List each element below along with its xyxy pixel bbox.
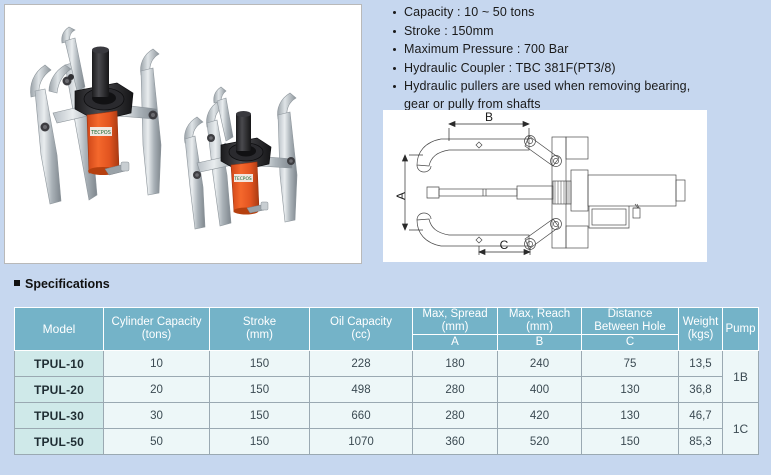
header-distance-between-hole: Distance Between Hole <box>582 308 679 335</box>
cell-distance-between-hole: 75 <box>582 351 679 377</box>
cell-stroke: 150 <box>210 403 310 429</box>
header-weight-unit: (kgs) <box>679 329 722 342</box>
header-max-spread-sub: A <box>413 335 498 351</box>
cell-cylinder-capacity: 30 <box>104 403 210 429</box>
header-distance-line2: Between Hole <box>582 321 678 334</box>
cell-max-spread: 280 <box>413 403 498 429</box>
product-photo-panel: TECPOS <box>4 4 362 264</box>
header-distance-sub: C <box>582 335 679 351</box>
cell-distance-between-hole: 150 <box>582 429 679 455</box>
header-max-reach-label: Max, Reach <box>498 308 581 321</box>
specifications-heading-text: Specifications <box>25 277 110 291</box>
feature-item-max-pressure: Maximum Pressure : 700 Bar <box>390 41 768 59</box>
header-max-spread: Max, Spread (mm) <box>413 308 498 335</box>
cell-oil-capacity: 228 <box>310 351 413 377</box>
cell-weight: 85,3 <box>679 429 723 455</box>
cell-max-reach: 520 <box>498 429 582 455</box>
feature-item-stroke: Stroke : 150mm <box>390 23 768 41</box>
feature-text: Hydraulic pullers are used when removing… <box>404 79 690 93</box>
cell-distance-between-hole: 130 <box>582 403 679 429</box>
cell-stroke: 150 <box>210 429 310 455</box>
header-stroke: Stroke (mm) <box>210 308 310 351</box>
header-max-spread-label: Max, Spread <box>413 308 497 321</box>
technical-drawing-panel: B A C <box>383 110 707 262</box>
table-header-row-main: Model Cylinder Capacity (tons) Stroke (m… <box>15 308 759 335</box>
feature-text: Hydraulic Coupler : TBC 381F(PT3/8) <box>404 61 616 75</box>
cell-pump: 1C <box>723 403 759 455</box>
header-weight: Weight (kgs) <box>679 308 723 351</box>
header-max-spread-unit: (mm) <box>413 321 497 334</box>
header-model: Model <box>15 308 104 351</box>
specifications-heading: Specifications <box>14 277 110 291</box>
cell-max-reach: 400 <box>498 377 582 403</box>
cell-oil-capacity: 1070 <box>310 429 413 455</box>
header-max-reach: Max, Reach (mm) <box>498 308 582 335</box>
cell-oil-capacity: 660 <box>310 403 413 429</box>
feature-list: Capacity : 10 ~ 50 tons Stroke : 150mm M… <box>390 4 768 114</box>
feature-item-hydraulic-coupler: Hydraulic Coupler : TBC 381F(PT3/8) <box>390 60 768 78</box>
svg-text:TECPOS: TECPOS <box>90 130 111 136</box>
feature-text: Capacity : 10 ~ 50 tons <box>404 5 535 19</box>
cell-max-spread: 360 <box>413 429 498 455</box>
cell-model: TPUL-10 <box>15 351 104 377</box>
header-oil-capacity-unit: (cc) <box>310 329 412 342</box>
cell-weight: 36,8 <box>679 377 723 403</box>
header-distance-line1: Distance <box>582 308 678 321</box>
header-stroke-label: Stroke <box>210 316 309 329</box>
feature-text: Maximum Pressure : 700 Bar <box>404 42 568 56</box>
cell-oil-capacity: 498 <box>310 377 413 403</box>
cell-weight: 13,5 <box>679 351 723 377</box>
header-oil-capacity: Oil Capacity (cc) <box>310 308 413 351</box>
cell-distance-between-hole: 130 <box>582 377 679 403</box>
table-row: TPUL-30 30 150 660 280 420 130 46,7 1C <box>15 403 759 429</box>
cell-stroke: 150 <box>210 377 310 403</box>
table-row: TPUL-10 10 150 228 180 240 75 13,5 1B <box>15 351 759 377</box>
cell-model: TPUL-30 <box>15 403 104 429</box>
cell-model: TPUL-20 <box>15 377 104 403</box>
header-cylinder-capacity-unit: (tons) <box>104 329 209 342</box>
cell-max-spread: 280 <box>413 377 498 403</box>
cell-max-reach: 420 <box>498 403 582 429</box>
header-pump: Pump <box>723 308 759 351</box>
dimension-label-b: B <box>485 110 493 124</box>
table-row: TPUL-20 20 150 498 280 400 130 36,8 <box>15 377 759 403</box>
feature-text: Stroke : 150mm <box>404 24 494 38</box>
hydraulic-pullers-photo: TECPOS <box>5 5 359 261</box>
header-weight-label: Weight <box>679 316 722 329</box>
specifications-table-wrapper: Model Cylinder Capacity (tons) Stroke (m… <box>14 307 758 455</box>
header-stroke-unit: (mm) <box>210 329 309 342</box>
feature-item-capacity: Capacity : 10 ~ 50 tons <box>390 4 768 22</box>
svg-text:TECPOS: TECPOS <box>233 176 252 182</box>
cell-pump: 1B <box>723 351 759 403</box>
cell-model: TPUL-50 <box>15 429 104 455</box>
catalog-page: TECPOS <box>0 0 771 475</box>
cell-cylinder-capacity: 20 <box>104 377 210 403</box>
cell-weight: 46,7 <box>679 403 723 429</box>
header-cylinder-capacity-label: Cylinder Capacity <box>104 316 209 329</box>
cell-max-spread: 180 <box>413 351 498 377</box>
header-cylinder-capacity: Cylinder Capacity (tons) <box>104 308 210 351</box>
cell-max-reach: 240 <box>498 351 582 377</box>
header-max-reach-unit: (mm) <box>498 321 581 334</box>
header-oil-capacity-label: Oil Capacity <box>310 316 412 329</box>
header-max-reach-sub: B <box>498 335 582 351</box>
cell-stroke: 150 <box>210 351 310 377</box>
specifications-table: Model Cylinder Capacity (tons) Stroke (m… <box>14 307 759 455</box>
bullet-square-icon <box>14 280 20 286</box>
puller-dimension-drawing: B A C <box>383 110 707 262</box>
dimension-label-c: C <box>500 238 509 252</box>
cell-cylinder-capacity: 50 <box>104 429 210 455</box>
table-row: TPUL-50 50 150 1070 360 520 150 85,3 <box>15 429 759 455</box>
dimension-label-a: A <box>394 192 408 200</box>
feature-item-usage: Hydraulic pullers are used when removing… <box>390 78 768 113</box>
cell-cylinder-capacity: 10 <box>104 351 210 377</box>
